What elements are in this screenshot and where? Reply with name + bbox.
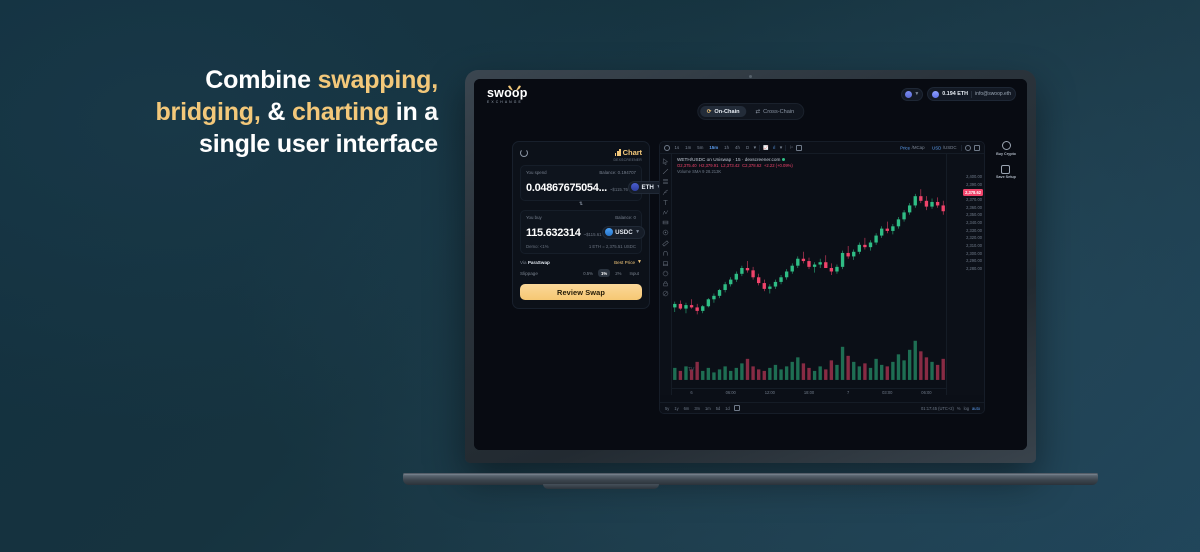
webcam-icon — [749, 75, 752, 78]
calendar-icon[interactable] — [734, 405, 740, 411]
range-1d[interactable]: 1d — [724, 406, 731, 411]
price-tick: 2,330.00 — [966, 228, 982, 233]
interval-5m[interactable]: 5m — [696, 145, 705, 151]
range-1y[interactable]: 1y — [673, 406, 679, 411]
bar-chart-icon — [615, 150, 620, 156]
refresh-icon: ⟳ — [707, 109, 712, 115]
range-5d[interactable]: 5d — [715, 406, 722, 411]
price-tick: 2,320.00 — [966, 235, 982, 240]
app-logo[interactable]: swoop exchange — [487, 88, 543, 104]
wallet-account-pill[interactable]: 0.194 ETH info@swoop.eth — [927, 87, 1016, 101]
chevron-down-icon: ▼ — [635, 229, 640, 235]
ethereum-icon — [905, 91, 912, 98]
slippage-options: 0.5% 1% 2% Input — [580, 269, 642, 277]
info-icon[interactable] — [965, 145, 971, 151]
measure-icon[interactable] — [662, 219, 669, 226]
time-tick: 6 — [690, 390, 692, 395]
percent-scale-icon[interactable]: % — [957, 406, 961, 411]
exchange-rate: 1 ETH = 2,375.51 USDC — [589, 244, 636, 249]
laptop-mockup: swoop exchange ▼ 0.194 ETH — [403, 70, 798, 495]
chart-legend: WETH/USDC on Uniswap · 15 · dexscreener.… — [677, 157, 793, 174]
slippage-option-0[interactable]: 0.5% — [580, 269, 596, 277]
circle-shape-icon[interactable] — [662, 229, 669, 236]
save-icon — [1001, 165, 1010, 174]
chart-symbol: WETH/USDC on Uniswap · 15 · dexscreener.… — [677, 157, 780, 162]
range-6m[interactable]: 6m — [683, 406, 691, 411]
chart-plot-area[interactable]: WETH/USDC on Uniswap · 15 · dexscreener.… — [672, 154, 946, 395]
drawing-toolbar — [660, 154, 672, 395]
divider — [961, 145, 962, 151]
logo-subtitle: exchange — [487, 100, 543, 104]
review-swap-button[interactable]: Review Swap — [520, 284, 642, 300]
interval-d[interactable]: D — [744, 145, 750, 151]
buy-field[interactable]: You buy Balance: 0 115.632314~$115.61 US… — [520, 210, 642, 254]
best-price-label: Best Price — [614, 260, 635, 265]
time-tick: 12:00 — [765, 390, 775, 395]
laptop-base — [403, 474, 1098, 485]
wallet-zone: ▼ 0.194 ETH info@swoop.eth — [901, 87, 1016, 101]
price-tick: 2,370.00 — [966, 197, 982, 202]
headline-line-2: bridging, & charting in a — [0, 96, 438, 128]
mode-tabs: ⟳ On-Chain ⇄ Cross-Chain — [697, 103, 804, 120]
chart-badge-subtitle: DEXSCREENER — [613, 158, 642, 162]
headline-accent-bridging: bridging, — [155, 98, 260, 126]
pitchfork-icon[interactable] — [662, 189, 669, 196]
slippage-label: Slippage — [520, 271, 538, 276]
chevron-down-icon[interactable]: ▾ — [780, 145, 783, 151]
route-row: Via ParaSwap Best Price ▼ — [520, 259, 642, 265]
price-tick: 2,350.00 — [966, 212, 982, 217]
toggle-price-label: Price — [899, 145, 912, 151]
trendline-icon[interactable] — [662, 168, 669, 175]
ohlc-open: 2,375.40 — [680, 163, 696, 168]
alert-icon[interactable]: ⚐ — [789, 145, 793, 151]
current-price-label: 2,378.62 — [963, 189, 983, 196]
swap-direction-button[interactable]: ⇅ — [520, 202, 642, 207]
price-tick: 2,340.00 — [966, 220, 982, 225]
price-tick: 2,400.00 — [966, 174, 982, 179]
cursor-icon[interactable] — [662, 158, 669, 165]
ohlc-low: 2,373.42 — [723, 163, 739, 168]
interval-4h[interactable]: 4h — [734, 145, 742, 151]
chart-badge-title: Chart — [623, 148, 642, 157]
tradingview-watermark-icon: TV — [688, 367, 694, 373]
ohlc-close: 2,378.62 — [745, 163, 761, 168]
tab-cross-chain-label: Cross-Chain — [763, 109, 794, 115]
volume-legend: Volume SMA 9 28.213K — [677, 169, 793, 174]
headline-text: Combine — [205, 66, 317, 94]
chart-clock: 01:17:45 (UTC+2) — [921, 406, 954, 411]
via-label: Via — [520, 260, 527, 265]
buy-usd: ~$115.61 — [584, 232, 602, 237]
ohlc-high: 2,379.91 — [702, 163, 718, 168]
price-axis[interactable]: 2,400.002,390.002,380.002,370.002,360.00… — [946, 154, 984, 395]
chart-badge[interactable]: Chart DEXSCREENER — [613, 148, 642, 162]
slippage-option-1[interactable]: 1% — [598, 269, 610, 277]
eraser-icon[interactable] — [662, 260, 669, 267]
eth-token-icon — [631, 183, 639, 191]
usdc-token-icon — [605, 228, 613, 236]
chevron-down-icon: ▼ — [914, 91, 919, 97]
buy-crypto-button[interactable]: Buy Crypto — [996, 141, 1016, 156]
buy-crypto-label: Buy Crypto — [996, 152, 1016, 156]
chart-panel: 1s 1m 5m 15m 1h 4h D ▾ 📈 ıl ▾ ⚐ — [659, 141, 985, 414]
indicators-icon[interactable]: ıl — [772, 145, 777, 151]
buy-token-selector[interactable]: USDC ▼ — [602, 226, 646, 239]
tab-on-chain[interactable]: ⟳ On-Chain — [700, 106, 747, 117]
price-tick: 2,300.00 — [966, 251, 982, 256]
laptop-screen: swoop exchange ▼ 0.194 ETH — [474, 79, 1027, 450]
chevron-down-icon: ▼ — [637, 259, 642, 265]
hide-drawings-icon[interactable] — [662, 290, 669, 297]
swap-card: Chart DEXSCREENER You spend Balance: 0.1… — [512, 141, 650, 309]
spend-balance: Balance: 0.194707 — [599, 170, 636, 175]
divider — [759, 145, 760, 151]
slippage-row: Slippage 0.5% 1% 2% Input — [520, 269, 642, 277]
wallet-address: info@swoop.eth — [975, 91, 1011, 97]
fullscreen-icon[interactable] — [974, 145, 980, 151]
ruler-icon[interactable] — [662, 240, 669, 247]
magnet-icon[interactable] — [662, 250, 669, 257]
buy-amount-input[interactable]: 115.632314 — [526, 227, 581, 239]
demo-label: Demo: <1% — [526, 244, 549, 249]
spend-field[interactable]: You spend Balance: 0.194707 0.0486767505… — [520, 165, 642, 201]
network-selector[interactable]: ▼ — [901, 88, 923, 101]
page-headline: Combine swapping, bridging, & charting i… — [0, 64, 440, 160]
divider — [971, 91, 972, 98]
chart-footer: 5y 1y 6m 3m 1m 5d 1d 01:17:45 (UTC+2) % … — [660, 402, 984, 413]
time-tick: 18:00 — [804, 390, 814, 395]
save-setup-button[interactable]: Save Setup — [996, 165, 1016, 180]
price-tick: 2,280.00 — [966, 266, 982, 271]
ohlc-change: +2.22 (+0.09%) — [764, 163, 793, 168]
best-price-selector[interactable]: Best Price ▼ — [614, 259, 642, 265]
spend-label: You spend — [526, 170, 547, 175]
range-3m[interactable]: 3m — [693, 406, 701, 411]
price-tick: 2,360.00 — [966, 205, 982, 210]
time-tick: 06:00 — [921, 390, 931, 395]
wallet-balance: 0.194 ETH — [942, 91, 968, 97]
tab-on-chain-label: On-Chain — [714, 109, 739, 115]
pattern-icon[interactable] — [662, 209, 669, 216]
buy-token-label: USDC — [615, 229, 633, 236]
toggle-currency[interactable]: USD/USDC — [929, 145, 958, 151]
log-scale-button[interactable]: log — [964, 406, 969, 411]
interval-1s[interactable]: 1s — [673, 145, 681, 151]
dollar-circle-icon — [1002, 141, 1011, 150]
text-icon[interactable] — [662, 199, 669, 206]
interval-1m[interactable]: 1m — [684, 145, 693, 151]
refresh-quote-button[interactable] — [520, 149, 528, 157]
time-tick: 06:00 — [726, 390, 736, 395]
toggle-usd-label: USD — [931, 145, 943, 151]
tab-cross-chain[interactable]: ⇄ Cross-Chain — [749, 106, 802, 117]
toggle-price[interactable]: Price/MCap — [897, 145, 926, 151]
buy-balance: Balance: 0 — [615, 215, 636, 220]
price-tick: 2,310.00 — [966, 243, 982, 248]
spend-token-label: ETH — [641, 184, 653, 191]
right-rail: Buy Crypto Save Setup — [991, 141, 1021, 179]
fib-retracement-icon[interactable] — [662, 178, 669, 185]
divider — [785, 145, 786, 151]
headline-amp: & — [261, 98, 292, 126]
slippage-option-2[interactable]: 2% — [612, 269, 624, 277]
emoji-icon[interactable] — [662, 270, 669, 277]
laptop-lid: swoop exchange ▼ 0.194 ETH — [465, 70, 1036, 463]
bridge-icon: ⇄ — [756, 109, 761, 115]
price-tick: 2,290.00 — [966, 258, 982, 263]
symbol-search-icon[interactable] — [664, 145, 670, 151]
headline-accent-charting: charting — [292, 98, 389, 126]
spend-amount-input[interactable]: 0.04867675054... — [526, 182, 607, 194]
time-tick: 03:00 — [882, 390, 892, 395]
chevron-down-icon[interactable]: ▾ — [754, 145, 757, 151]
chart-toolbar: 1s 1m 5m 15m 1h 4h D ▾ 📈 ıl ▾ ⚐ — [660, 142, 984, 154]
time-axis[interactable]: 606:0012:0018:00703:0006:00 — [672, 388, 946, 395]
time-tick: 7 — [847, 390, 849, 395]
range-1m[interactable]: 1m — [704, 406, 712, 411]
toggle-usdc-label: USDC — [944, 145, 956, 150]
laptop-base-notch — [543, 484, 659, 489]
slippage-option-3[interactable]: Input — [626, 269, 642, 277]
bull-horns-icon — [507, 85, 522, 94]
avatar — [932, 91, 939, 98]
lock-icon[interactable] — [662, 280, 669, 287]
interval-1h[interactable]: 1h — [723, 145, 731, 151]
route-provider: ParaSwap — [528, 260, 550, 265]
auto-scale-button[interactable]: auto — [972, 406, 980, 411]
chart-body: WETH/USDC on Uniswap · 15 · dexscreener.… — [660, 154, 984, 395]
headline-line-1: Combine swapping, — [0, 64, 438, 96]
interval-15m[interactable]: 15m — [708, 145, 720, 151]
live-indicator-icon — [782, 158, 785, 161]
spend-usd: ~$115.76 — [610, 187, 628, 192]
range-5y[interactable]: 5y — [664, 406, 670, 411]
swoop-exchange-app: swoop exchange ▼ 0.194 ETH — [474, 79, 1027, 450]
toggle-mcap-label: MCap — [913, 145, 925, 150]
buy-label: You buy — [526, 215, 542, 220]
candlestick-series — [672, 154, 946, 395]
save-setup-label: Save Setup — [996, 175, 1016, 179]
headline-line-3: single user interface — [0, 128, 438, 160]
price-tick: 2,390.00 — [966, 182, 982, 187]
layout-icon[interactable] — [796, 145, 802, 151]
chart-type-icon[interactable]: 📈 — [763, 145, 768, 151]
